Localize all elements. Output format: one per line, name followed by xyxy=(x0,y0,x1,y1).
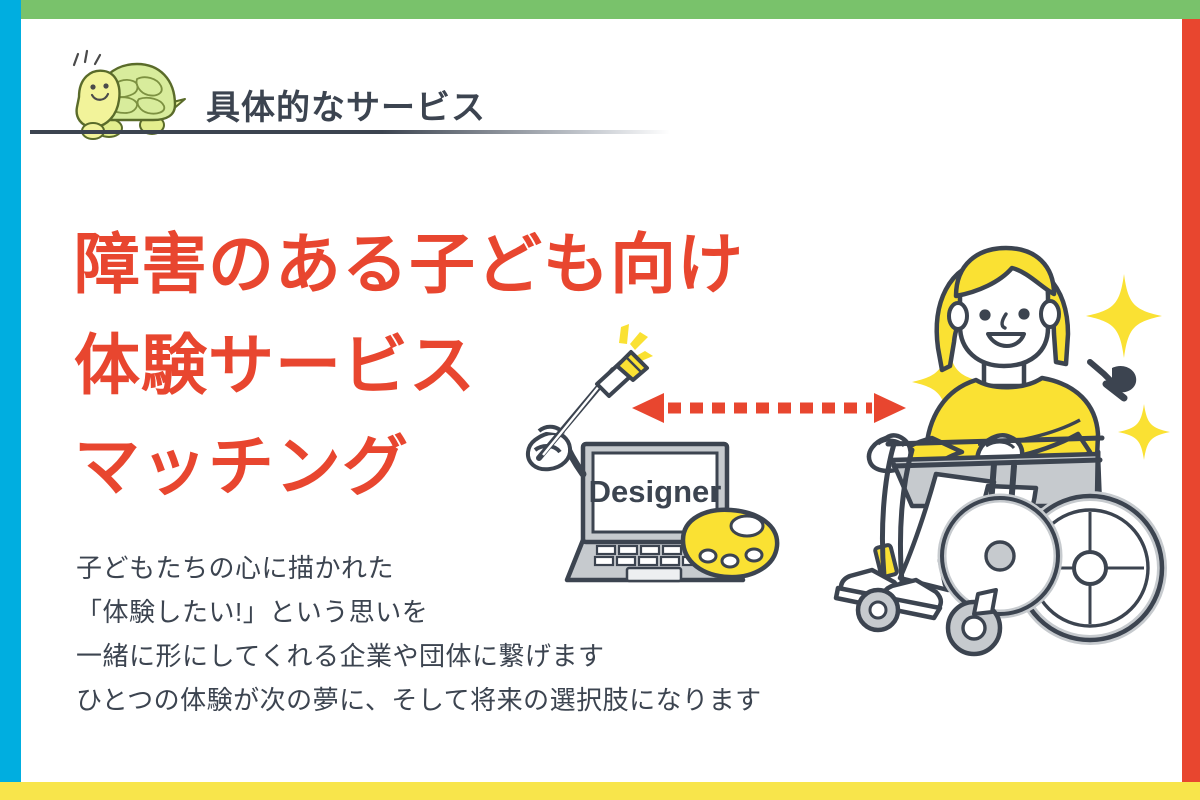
frame-bar-left xyxy=(0,0,21,782)
slide-root: 具体的なサービス 障害のある子ども向け 体験サービス マッチング 子どもたちの心… xyxy=(0,0,1200,800)
body-line: ひとつの体験が次の夢に、そして将来の選択肢になります xyxy=(76,678,762,722)
frame-bar-bottom xyxy=(0,782,1200,800)
headline-line-1: 障害のある子ども向け xyxy=(74,214,744,315)
body-line: 一緒に形にしてくれる企業や団体に繋げます xyxy=(76,634,762,678)
page-title: 具体的なサービス xyxy=(206,91,486,125)
header-divider xyxy=(30,130,670,134)
header: 具体的なサービス xyxy=(21,19,1182,137)
girl-in-wheelchair-illustration xyxy=(828,238,1184,662)
frame-bar-top xyxy=(21,0,1200,19)
frame-bar-right xyxy=(1182,19,1200,782)
designer-laptop-illustration: Designer xyxy=(505,318,795,618)
laptop-screen-label: Designer xyxy=(589,474,722,509)
